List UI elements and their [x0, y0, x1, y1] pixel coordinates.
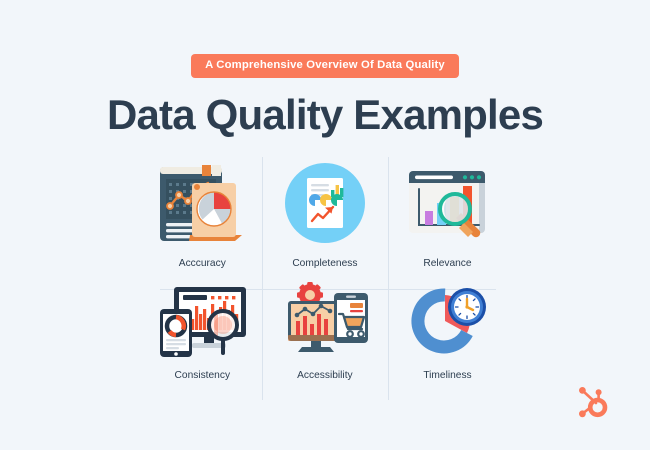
icon-wrap-accuracy — [141, 157, 264, 249]
cell-label-completeness: Completeness — [292, 258, 357, 270]
page-title: Data Quality Examples — [0, 90, 650, 140]
hubspot-sprocket-icon — [577, 385, 611, 421]
grid-cell-accessibility: Accessibility — [264, 279, 387, 401]
grid-cell-accuracy: Acccuracy — [141, 157, 264, 279]
circle-document-charts-arrow-icon — [281, 159, 369, 247]
cell-label-consistency: Consistency — [175, 370, 231, 382]
icon-wrap-relevance — [386, 157, 509, 249]
hubspot-sprocket-logo — [577, 385, 611, 421]
donut-chart-clock-icon — [405, 283, 489, 359]
cell-label-accessibility: Accessibility — [297, 370, 352, 382]
clipboard-line-chart-pie-report-icon — [152, 159, 252, 247]
examples-grid: Acccuracy — [141, 157, 509, 400]
cell-label-accuracy: Acccuracy — [179, 258, 226, 270]
cell-label-timeliness: Timeliness — [423, 370, 471, 382]
badge-label: A Comprehensive Overview Of Data Quality — [191, 54, 459, 78]
grid-cell-timeliness: Timeliness — [386, 279, 509, 401]
monitor-tablet-bar-chart-magnifier-icon — [152, 281, 252, 361]
badge: A Comprehensive Overview Of Data Quality — [0, 54, 650, 78]
icon-wrap-completeness — [264, 157, 387, 249]
monitor-gear-phone-cart-icon — [278, 281, 372, 361]
infographic-canvas: A Comprehensive Overview Of Data Quality… — [0, 0, 650, 450]
grid-cell-consistency: Consistency — [141, 279, 264, 401]
icon-wrap-timeliness — [386, 279, 509, 363]
grid-cell-completeness: Completeness — [264, 157, 387, 279]
icon-wrap-accessibility — [264, 279, 387, 363]
cell-label-relevance: Relevance — [423, 258, 471, 270]
icon-wrap-consistency — [141, 279, 264, 363]
browser-bar-chart-magnifier-icon — [401, 161, 493, 245]
grid-cell-relevance: Relevance — [386, 157, 509, 279]
